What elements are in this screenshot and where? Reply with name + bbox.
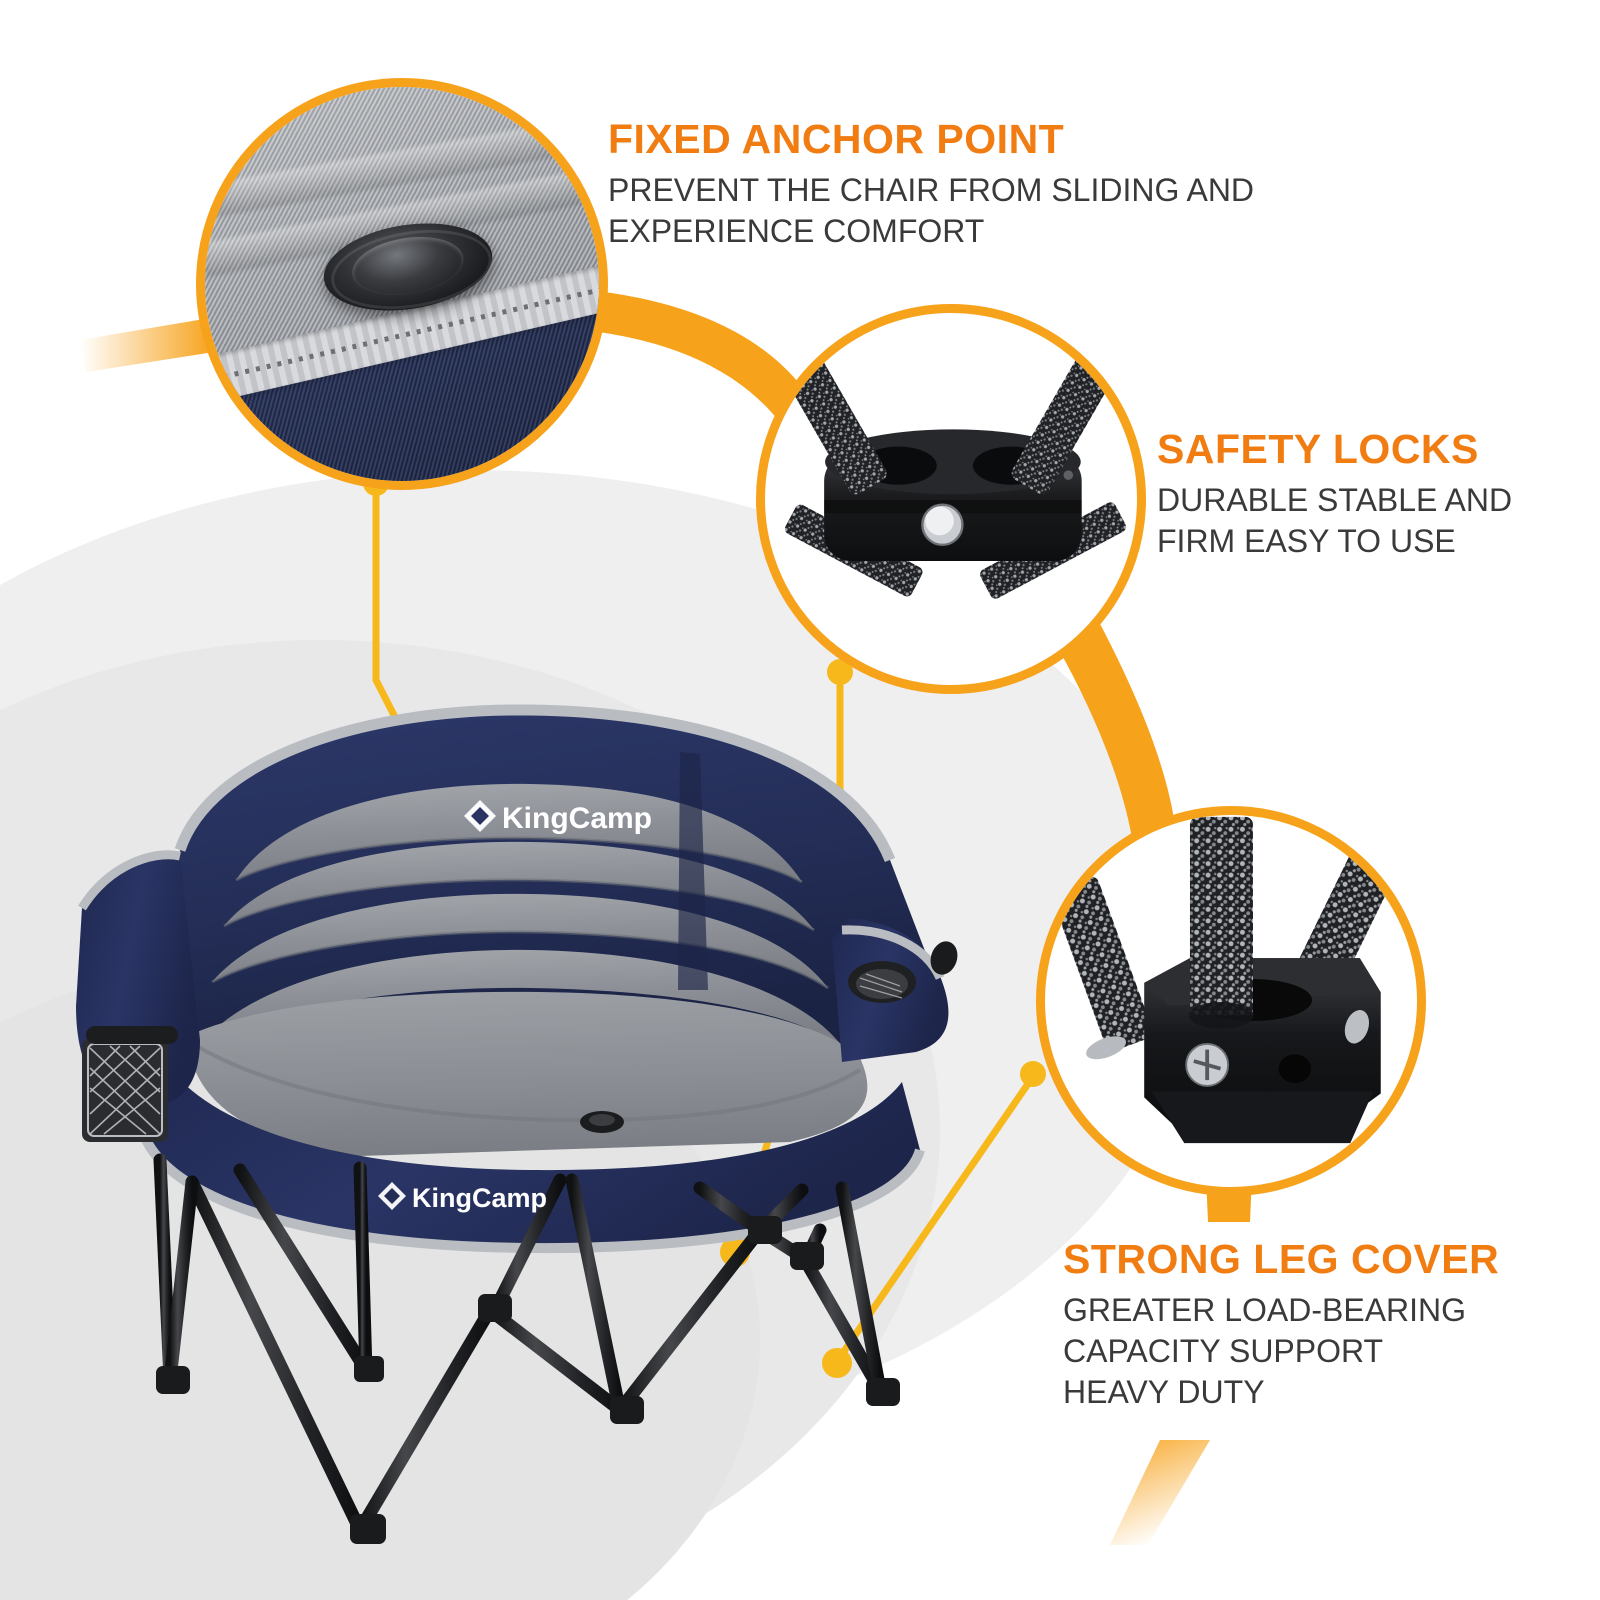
callout-body-leg: GREATER LOAD-BEARING CAPACITY SUPPORT HE… <box>1063 1290 1499 1413</box>
brand-logo-skirt-text: KingCamp <box>412 1183 547 1213</box>
callout-fixed-anchor-point: FIXED ANCHOR POINT PREVENT THE CHAIR FRO… <box>608 118 1254 252</box>
ribbon-tail-left <box>80 318 214 372</box>
feature-photo-fixed-anchor-point <box>196 78 608 490</box>
cup-holder-mesh <box>856 969 908 999</box>
infographic-canvas: FIXED ANCHOR POINT PREVENT THE CHAIR FRO… <box>0 0 1600 1600</box>
mesh-pocket-rim <box>86 1026 178 1044</box>
feature-photo-strong-leg-cover <box>1036 806 1426 1196</box>
leg-cover-illustration <box>1045 815 1417 1187</box>
callout-body-line: PREVENT THE CHAIR FROM SLIDING AND <box>608 170 1254 211</box>
callout-body-lock: DURABLE STABLE AND FIRM EASY TO USE <box>1157 480 1512 562</box>
callout-body-line: HEAVY DUTY <box>1063 1372 1499 1413</box>
callout-title-leg: STRONG LEG COVER <box>1063 1238 1499 1281</box>
feature-photo-safety-locks <box>756 304 1146 694</box>
chair-illustration: KingCamp KingCamp <box>60 690 1020 1570</box>
callout-body-line: CAPACITY SUPPORT <box>1063 1331 1499 1372</box>
callout-strong-leg-cover: STRONG LEG COVER GREATER LOAD-BEARING CA… <box>1063 1238 1499 1413</box>
callout-body-line: DURABLE STABLE AND <box>1157 480 1512 521</box>
callout-body-anchor: PREVENT THE CHAIR FROM SLIDING AND EXPER… <box>608 170 1254 252</box>
callout-body-line: GREATER LOAD-BEARING <box>1063 1290 1499 1331</box>
callout-title-lock: SAFETY LOCKS <box>1157 428 1512 471</box>
ribbon-anchor-to-lock <box>584 290 806 420</box>
chair-frame-hubs <box>156 1216 900 1544</box>
safety-lock-illustration <box>765 313 1137 685</box>
callout-body-line: FIRM EASY TO USE <box>1157 521 1512 562</box>
callout-body-line: EXPERIENCE COMFORT <box>608 211 1254 252</box>
chair-seat-pan <box>188 992 867 1156</box>
ribbon-lock-to-leg <box>1058 620 1176 838</box>
callout-title-anchor: FIXED ANCHOR POINT <box>608 118 1254 161</box>
brand-logo-backrest-text: KingCamp <box>502 802 652 835</box>
product-image-double-camping-chair: KingCamp KingCamp <box>60 690 1020 1570</box>
seat-anchor-snap-center <box>589 1114 615 1126</box>
callout-safety-locks: SAFETY LOCKS DURABLE STABLE AND FIRM EAS… <box>1157 428 1512 562</box>
ribbon-tail-bottom <box>1110 1440 1210 1545</box>
